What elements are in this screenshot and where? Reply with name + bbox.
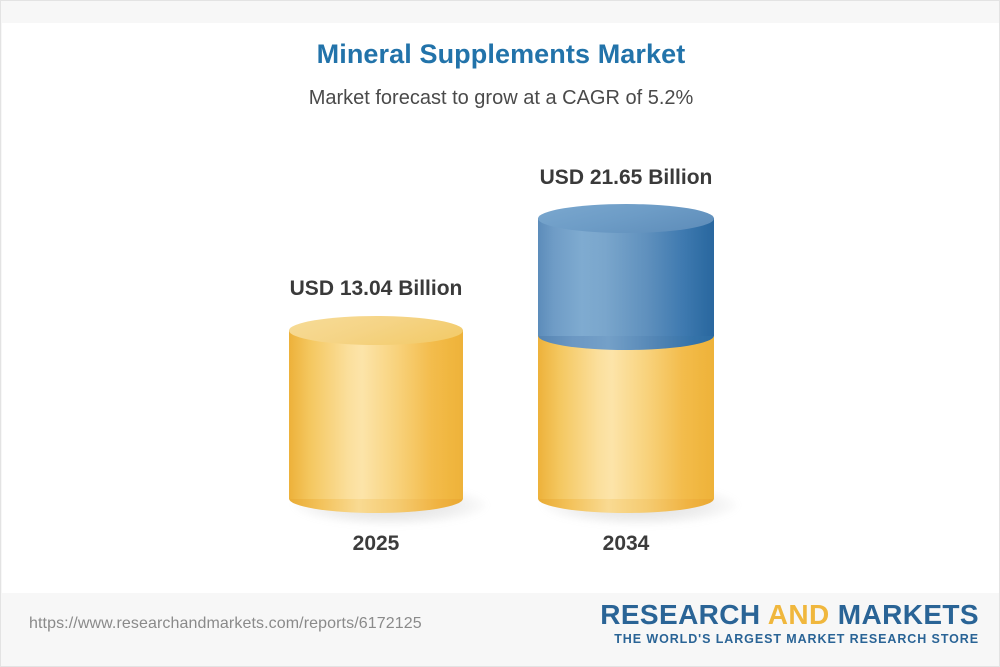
brand-name-part2: MARKETS [830,599,979,630]
infographic-card: Mineral Supplements Market Market foreca… [0,0,1000,667]
chart-subtitle: Market forecast to grow at a CAGR of 5.2… [1,71,1000,111]
brand-logo[interactable]: RESEARCH AND MARKETS THE WORLD'S LARGEST… [600,599,979,647]
chart-title: Mineral Supplements Market [1,37,1000,71]
brand-name: RESEARCH AND MARKETS [600,599,979,631]
source-url-link[interactable]: https://www.researchandmarkets.com/repor… [29,615,422,633]
brand-name-part1: RESEARCH [600,599,767,630]
chart-footer: https://www.researchandmarkets.com/repor… [1,591,1000,666]
cylinder-top-cap-2034 [538,204,714,233]
brand-name-and: AND [768,599,830,630]
bar-cylinder-2025[interactable] [289,316,463,516]
category-label-2025: 2025 [246,532,506,556]
category-label-2034: 2034 [496,532,756,556]
cylinder-body-2025 [289,330,463,499]
cylinder-body-growth-2034 [538,218,714,336]
value-label-2034: USD 21.65 Billion [466,166,786,190]
bar-cylinder-2034[interactable] [538,204,714,516]
bar-segment-base-2025 [289,316,463,513]
brand-tagline: THE WORLD'S LARGEST MARKET RESEARCH STOR… [600,631,979,647]
cylinder-top-cap-2025 [289,316,463,345]
value-label-2025: USD 13.04 Billion [216,277,536,301]
chart-header: Mineral Supplements Market Market foreca… [1,37,1000,111]
cylinder-body-base-2034 [538,330,714,499]
bar-segment-growth-2034 [538,204,714,350]
